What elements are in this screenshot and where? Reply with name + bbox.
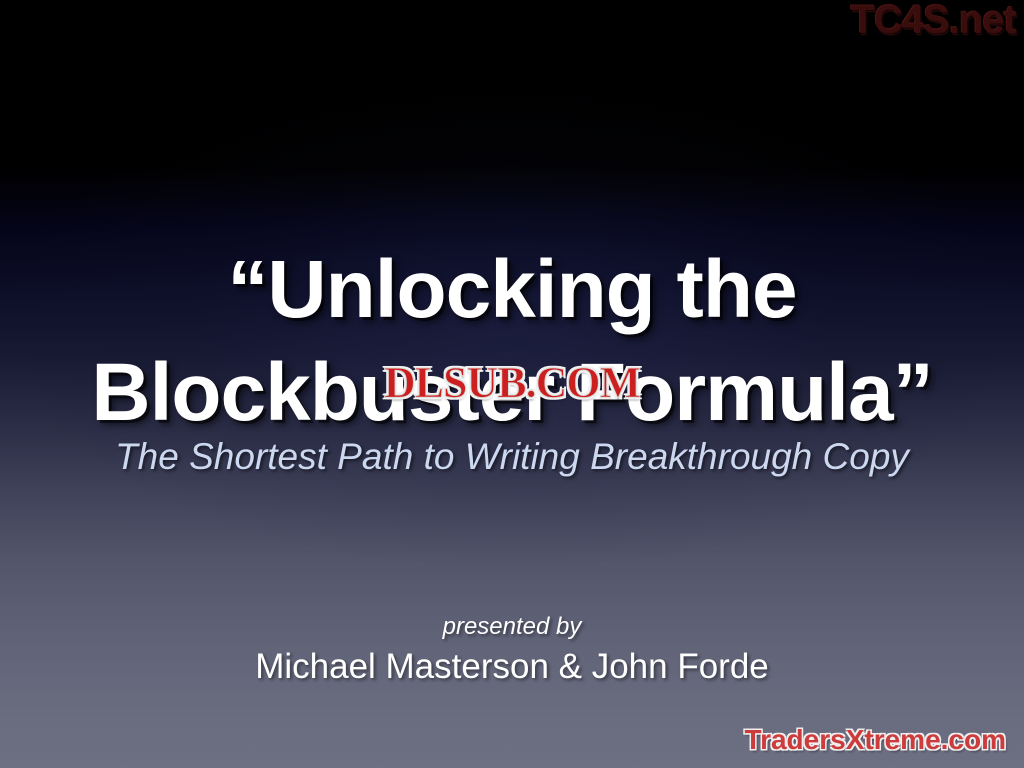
- presentation-slide: TC4S.net “Unlocking the Blockbuster Form…: [0, 0, 1024, 768]
- slide-title-line-2: Blockbuster Formula”: [0, 341, 1024, 444]
- slide-title-line-1: “Unlocking the: [0, 238, 1024, 341]
- presented-by-label: presented by: [0, 612, 1024, 642]
- slide-subtitle: The Shortest Path to Writing Breakthroug…: [0, 434, 1024, 480]
- watermark-tc4s: TC4S.net: [851, 0, 1016, 43]
- presenter-names: Michael Masterson & John Forde: [0, 645, 1024, 689]
- presenter-block: presented by Michael Masterson & John Fo…: [0, 612, 1024, 689]
- slide-title: “Unlocking the Blockbuster Formula”: [0, 238, 1024, 444]
- watermark-tradersxtreme: TradersXtreme.com: [745, 724, 1006, 756]
